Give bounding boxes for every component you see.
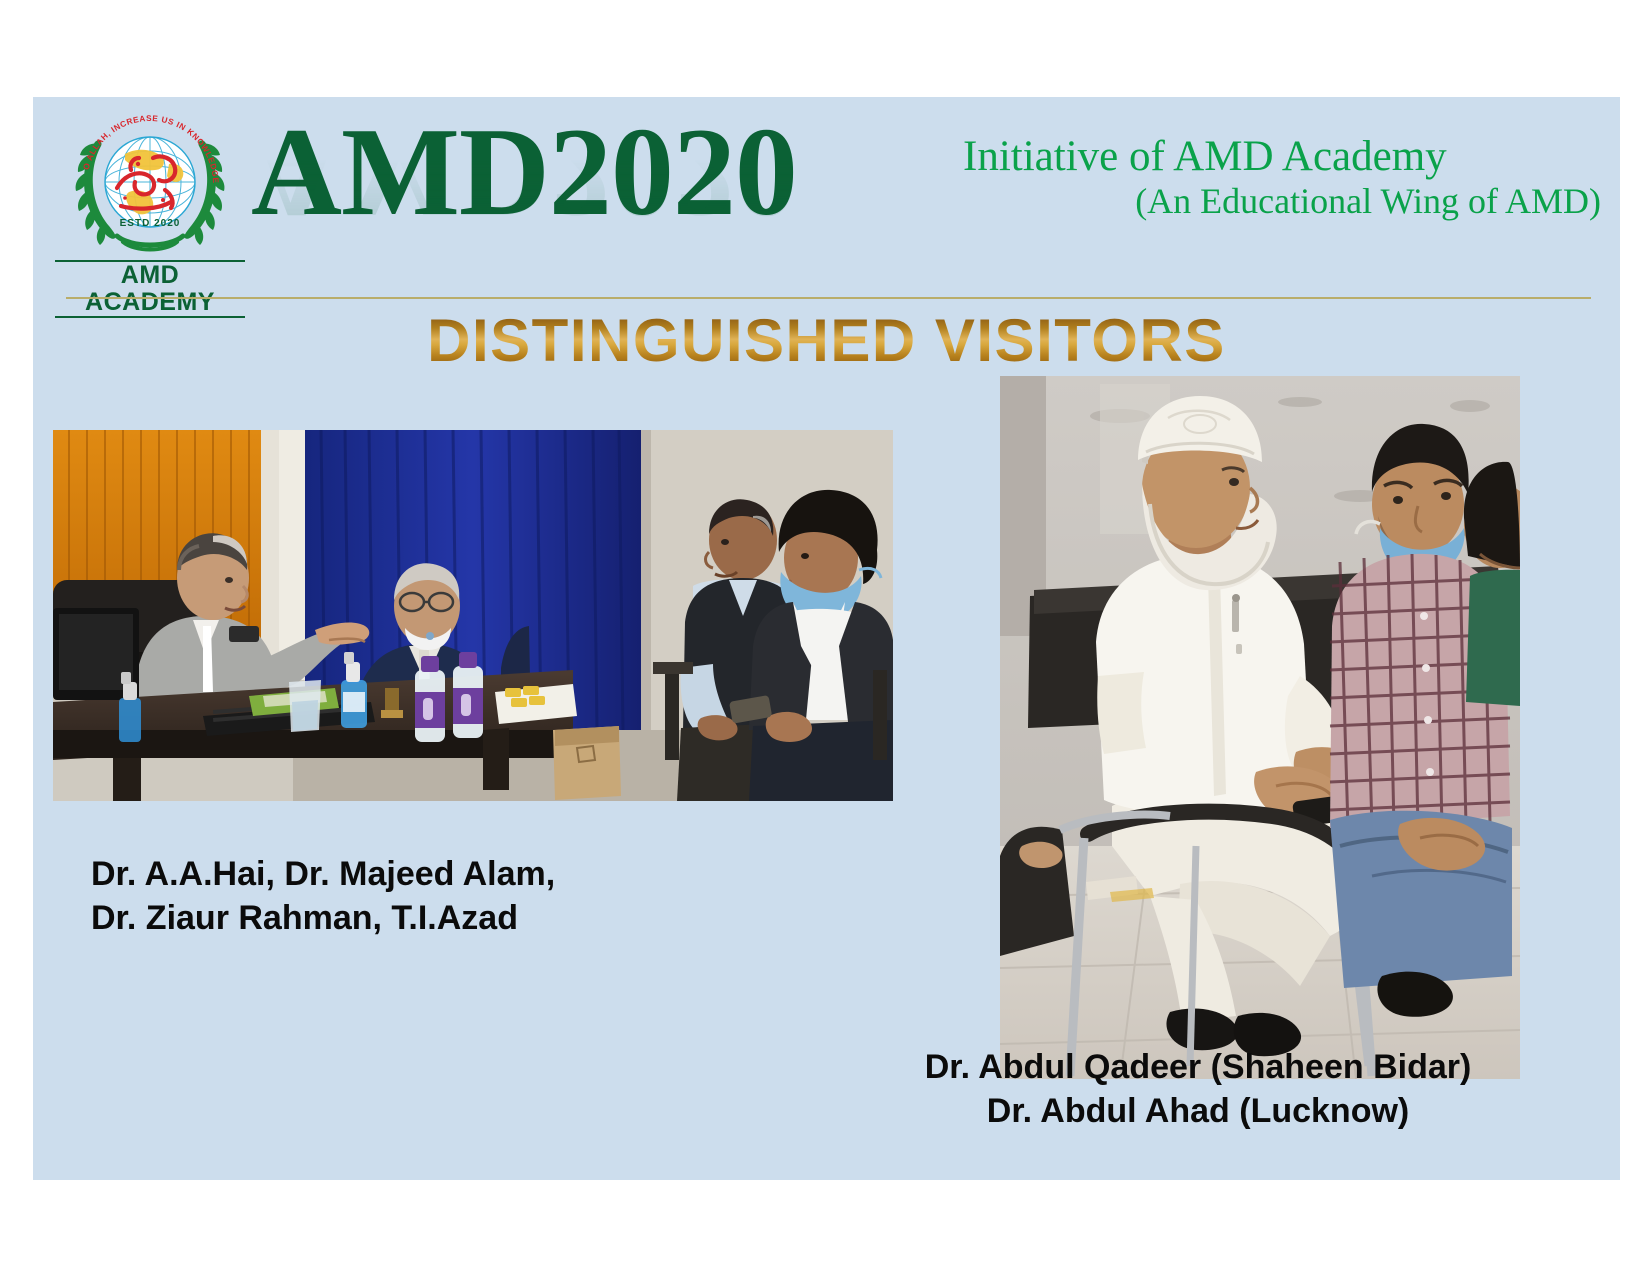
svg-text:ESTD 2020: ESTD 2020 <box>120 218 181 229</box>
tagline-line-1: Initiative of AMD Academy <box>963 133 1603 181</box>
slide-page: O ALLAH, INCREASE US IN KNOWLEDGE ! ESTD… <box>0 0 1650 1275</box>
tagline-line-2: (An Educational Wing of AMD) <box>963 181 1603 221</box>
slide-canvas: O ALLAH, INCREASE US IN KNOWLEDGE ! ESTD… <box>33 97 1620 1180</box>
photo-seated-visitors-right <box>1000 376 1520 1079</box>
caption-left-line-2: Dr. Ziaur Rahman, T.I.Azad <box>91 896 555 940</box>
caption-right-line-1: Dr. Abdul Qadeer (Shaheen Bidar) <box>833 1045 1563 1089</box>
header-divider <box>66 297 1591 299</box>
caption-right-line-2: Dr. Abdul Ahad (Lucknow) <box>833 1089 1563 1133</box>
section-heading: DISTINGUISHED VISITORS <box>427 309 1226 372</box>
main-title-block: AMD2020 AMD2020 <box>251 110 951 300</box>
caption-left-line-1: Dr. A.A.Hai, Dr. Majeed Alam, <box>91 852 555 896</box>
caption-right-photo: Dr. Abdul Qadeer (Shaheen Bidar) Dr. Abd… <box>833 1045 1563 1133</box>
slide-header: O ALLAH, INCREASE US IN KNOWLEDGE ! ESTD… <box>33 97 1620 295</box>
tagline-block: Initiative of AMD Academy (An Educationa… <box>963 133 1603 221</box>
photo-meeting-room-left <box>53 430 893 801</box>
amd-academy-logo: O ALLAH, INCREASE US IN KNOWLEDGE ! ESTD… <box>55 114 245 299</box>
amd-academy-globe-wreath-emblem: O ALLAH, INCREASE US IN KNOWLEDGE ! ESTD… <box>65 114 235 264</box>
caption-left-photo: Dr. A.A.Hai, Dr. Majeed Alam, Dr. Ziaur … <box>91 852 555 940</box>
page-title-reflection: AMD2020 <box>251 110 951 236</box>
